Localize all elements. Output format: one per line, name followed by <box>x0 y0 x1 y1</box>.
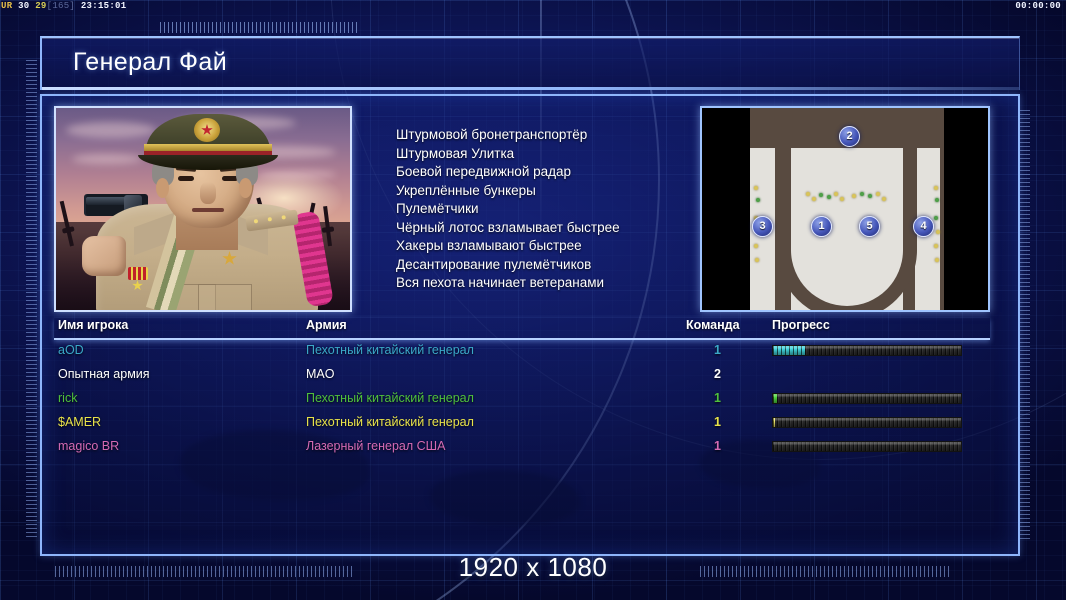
player-army: Пехотный китайский генерал <box>306 391 474 405</box>
ruler-decoration-top <box>160 22 360 33</box>
player-name: magico BR <box>58 439 119 453</box>
shoulder-star-icon <box>268 217 273 222</box>
resource-tree-icon <box>935 198 939 202</box>
ability-item: Штурмовой бронетранспортёр <box>396 126 700 145</box>
table-row[interactable]: rickПехотный китайский генерал1 <box>54 388 990 412</box>
general-info-row: Штурмовой бронетранспортёр Штурмовая Ули… <box>54 106 990 312</box>
progress-bar-sheen <box>773 442 961 451</box>
player-team: 2 <box>714 367 721 381</box>
table-row[interactable]: Опытная армияMAO2 <box>54 364 990 388</box>
player-name: rick <box>58 391 77 405</box>
resource-gold-icon <box>754 244 758 248</box>
player-name: $AMER <box>58 415 101 429</box>
map-start-position-marker[interactable]: 5 <box>859 216 880 237</box>
player-name: Опытная армия <box>58 367 150 381</box>
ability-item: Чёрный лотос взламывает быстрее <box>396 219 700 238</box>
ruler-decoration-right <box>1019 110 1030 540</box>
column-header-team: Команда <box>686 318 740 332</box>
status-ur-label: UR <box>1 1 12 11</box>
column-header-army: Армия <box>306 318 347 332</box>
resource-gold-icon <box>882 197 886 201</box>
resource-tree-icon <box>860 192 864 196</box>
ability-item: Десантирование пулемётчиков <box>396 256 700 275</box>
resource-tree-icon <box>868 194 872 198</box>
shoulder-star-icon <box>281 215 286 220</box>
table-row[interactable]: aODПехотный китайский генерал1 <box>54 340 990 364</box>
progress-bar <box>772 441 962 452</box>
progress-bar-sheen <box>773 394 961 403</box>
player-team: 1 <box>714 343 721 357</box>
portrait-ear <box>156 178 169 198</box>
map-start-position-marker[interactable]: 2 <box>839 126 860 147</box>
resource-gold-icon <box>834 192 838 196</box>
player-team: 1 <box>714 439 721 453</box>
progress-bar <box>772 417 962 428</box>
resource-gold-icon <box>754 186 758 190</box>
status-bracket-value: [165] <box>47 1 76 11</box>
player-army: Пехотный китайский генерал <box>306 415 474 429</box>
shoulder-star-icon <box>254 219 259 224</box>
uniform-pocket <box>198 284 252 312</box>
uniform-medal <box>128 267 148 280</box>
map-start-position-marker[interactable]: 4 <box>913 216 934 237</box>
game-lobby-screen: UR 30 29[165] 23:15:01 00:00:00 Генерал … <box>0 0 1066 600</box>
table-row[interactable]: magico BRЛазерный генерал США1 <box>54 436 990 460</box>
player-team: 1 <box>714 415 721 429</box>
resource-tree-icon <box>827 195 831 199</box>
map-image: 2 3 1 5 4 <box>702 108 988 310</box>
ability-item: Штурмовая Улитка <box>396 145 700 164</box>
cap-visor <box>138 155 278 170</box>
ruler-decoration-left <box>26 60 37 540</box>
status-value-2: 29 <box>35 1 46 11</box>
main-frame: Генерал Фай <box>40 36 1020 556</box>
progress-bar-sheen <box>773 418 961 427</box>
portrait-hand <box>82 236 126 276</box>
general-abilities-list: Штурмовой бронетранспортёр Штурмовая Ули… <box>352 106 700 312</box>
portrait-eye <box>178 176 194 181</box>
resource-tree-icon <box>819 193 823 197</box>
map-start-position-marker[interactable]: 1 <box>811 216 832 237</box>
status-bar: UR 30 29[165] 23:15:01 00:00:00 <box>0 0 1066 13</box>
ability-item: Вся пехота начинает ветеранами <box>396 274 700 293</box>
players-table-body: aODПехотный китайский генерал1Опытная ар… <box>54 340 990 460</box>
status-value-1: 30 <box>18 1 29 11</box>
status-bar-left: UR 30 29[165] 23:15:01 <box>1 0 126 13</box>
resource-tree-icon <box>934 216 938 220</box>
table-row[interactable]: $AMERПехотный китайский генерал1 <box>54 412 990 436</box>
portrait-nose <box>200 182 216 204</box>
general-portrait <box>54 106 352 312</box>
resolution-caption: 1920 x 1080 <box>0 552 1066 583</box>
status-timer-left: 23:15:01 <box>81 1 127 11</box>
page-title: Генерал Фай <box>73 48 227 77</box>
player-army: Пехотный китайский генерал <box>306 343 474 357</box>
player-army: MAO <box>306 367 334 381</box>
progress-bar <box>772 393 962 404</box>
status-timer-right: 00:00:00 <box>1015 0 1061 13</box>
portrait-ear <box>239 178 252 198</box>
resource-gold-icon <box>934 186 938 190</box>
progress-bar-sheen <box>773 346 961 355</box>
resource-gold-icon <box>936 230 940 234</box>
resource-tree-icon <box>756 198 760 202</box>
portrait-military-cap <box>134 114 282 172</box>
resource-gold-icon <box>934 244 938 248</box>
resource-gold-icon <box>935 258 939 262</box>
player-army: Лазерный генерал США <box>306 439 445 453</box>
player-team: 1 <box>714 391 721 405</box>
title-panel: Генерал Фай <box>40 36 1020 90</box>
players-table-header: Имя игрока Армия Команда Прогресс <box>54 318 990 340</box>
ability-item: Укреплённые бункеры <box>396 182 700 201</box>
resource-gold-icon <box>806 192 810 196</box>
resource-gold-icon <box>755 258 759 262</box>
resource-gold-icon <box>876 192 880 196</box>
map-preview[interactable]: 2 3 1 5 4 <box>700 106 990 312</box>
body-panel: Штурмовой бронетранспортёр Штурмовая Ули… <box>40 94 1020 556</box>
ability-item: Хакеры взламывают быстрее <box>396 237 700 256</box>
map-road-u-shape <box>777 144 917 312</box>
column-header-player: Имя игрока <box>58 318 128 332</box>
players-table: Имя игрока Армия Команда Прогресс aODПех… <box>54 318 990 546</box>
portrait-mouth <box>192 208 224 212</box>
cap-gold-band <box>144 144 272 151</box>
title-underline <box>42 87 1019 90</box>
ability-item: Пулемётчики <box>396 200 700 219</box>
resource-gold-icon <box>812 197 816 201</box>
resource-gold-icon <box>840 197 844 201</box>
column-header-progress: Прогресс <box>772 318 830 332</box>
map-start-position-marker[interactable]: 3 <box>752 216 773 237</box>
progress-bar <box>772 345 962 356</box>
resource-gold-icon <box>852 194 856 198</box>
cap-star-badge-icon <box>194 118 220 142</box>
ability-item: Боевой передвижной радар <box>396 163 700 182</box>
portrait-cloud <box>72 154 142 164</box>
player-name: aOD <box>58 343 84 357</box>
